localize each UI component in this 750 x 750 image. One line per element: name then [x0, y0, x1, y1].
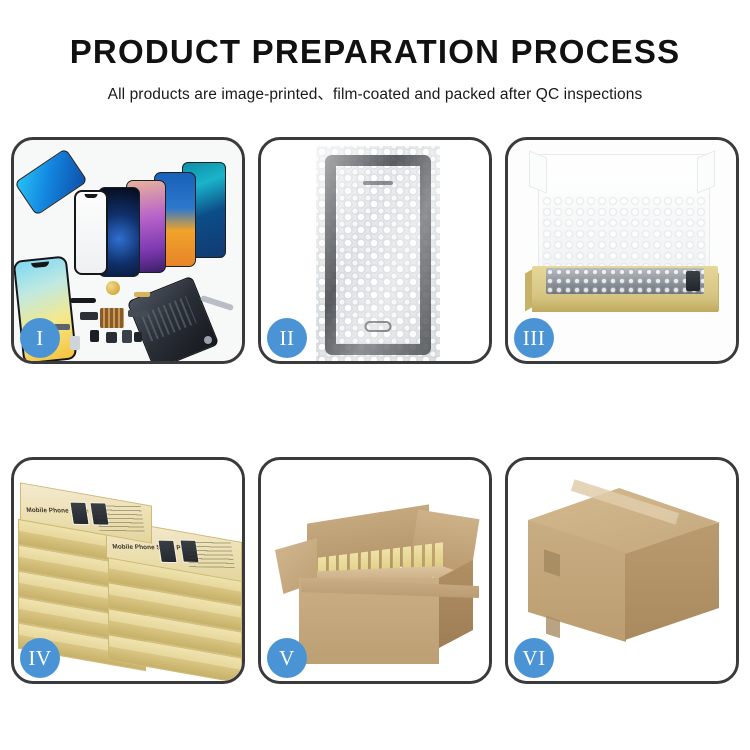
spare-part-small-a [90, 330, 99, 342]
box-artwork-screen-a [157, 540, 177, 564]
step-badge-4: IV [20, 638, 60, 678]
spare-part-flex-cable [70, 298, 96, 303]
home-button [365, 321, 392, 332]
phone-white-front-glass [74, 190, 108, 275]
box-front-lip [532, 298, 718, 312]
process-step-grid: I II III [11, 137, 739, 684]
page-subtitle: All products are image-printed、film-coat… [0, 82, 750, 104]
page-title: PRODUCT PREPARATION PROCESS [0, 34, 750, 71]
spare-part-small-b [106, 332, 117, 343]
box-lid-flap-right [697, 150, 715, 193]
spare-part-screw [204, 336, 212, 344]
step-badge-6: VI [514, 638, 554, 678]
bubble-wrap-sheet [316, 146, 440, 361]
foam-liner [542, 196, 706, 272]
box-spec-lines-top [95, 504, 145, 531]
process-step-panel-4[interactable]: Mobile Phone Spare Parts Mobile Phone Sp… [11, 457, 245, 684]
spare-part-module-b [128, 310, 148, 317]
spare-part-small-d [134, 332, 142, 342]
process-step-panel-5[interactable]: V [258, 457, 492, 684]
screen-bezel [325, 155, 431, 355]
step-badge-1: I [20, 318, 60, 358]
spare-part-small-c [122, 330, 132, 343]
box-artwork-screen-c [69, 502, 89, 526]
wrapped-product-in-box [546, 268, 704, 294]
step-badge-3: III [514, 318, 554, 358]
earpiece-slot [363, 181, 393, 185]
step-badge-2: II [267, 318, 307, 358]
spare-part-sim-tray [70, 336, 80, 350]
step-badge-5: V [267, 638, 307, 678]
process-step-panel-1[interactable]: I [11, 137, 245, 364]
page-header: PRODUCT PREPARATION PROCESS All products… [0, 0, 750, 104]
process-step-panel-2[interactable]: II [258, 137, 492, 364]
process-step-panel-6[interactable]: VI [505, 457, 739, 684]
process-step-panel-3[interactable]: III [505, 137, 739, 364]
box-spec-lines-front [185, 541, 235, 568]
spare-part-connector [134, 292, 150, 297]
spare-part-chip-grid [100, 308, 124, 328]
spare-part-module-a [80, 312, 98, 320]
spare-part-coil [106, 281, 120, 295]
box-lid-flap-left [529, 150, 547, 193]
